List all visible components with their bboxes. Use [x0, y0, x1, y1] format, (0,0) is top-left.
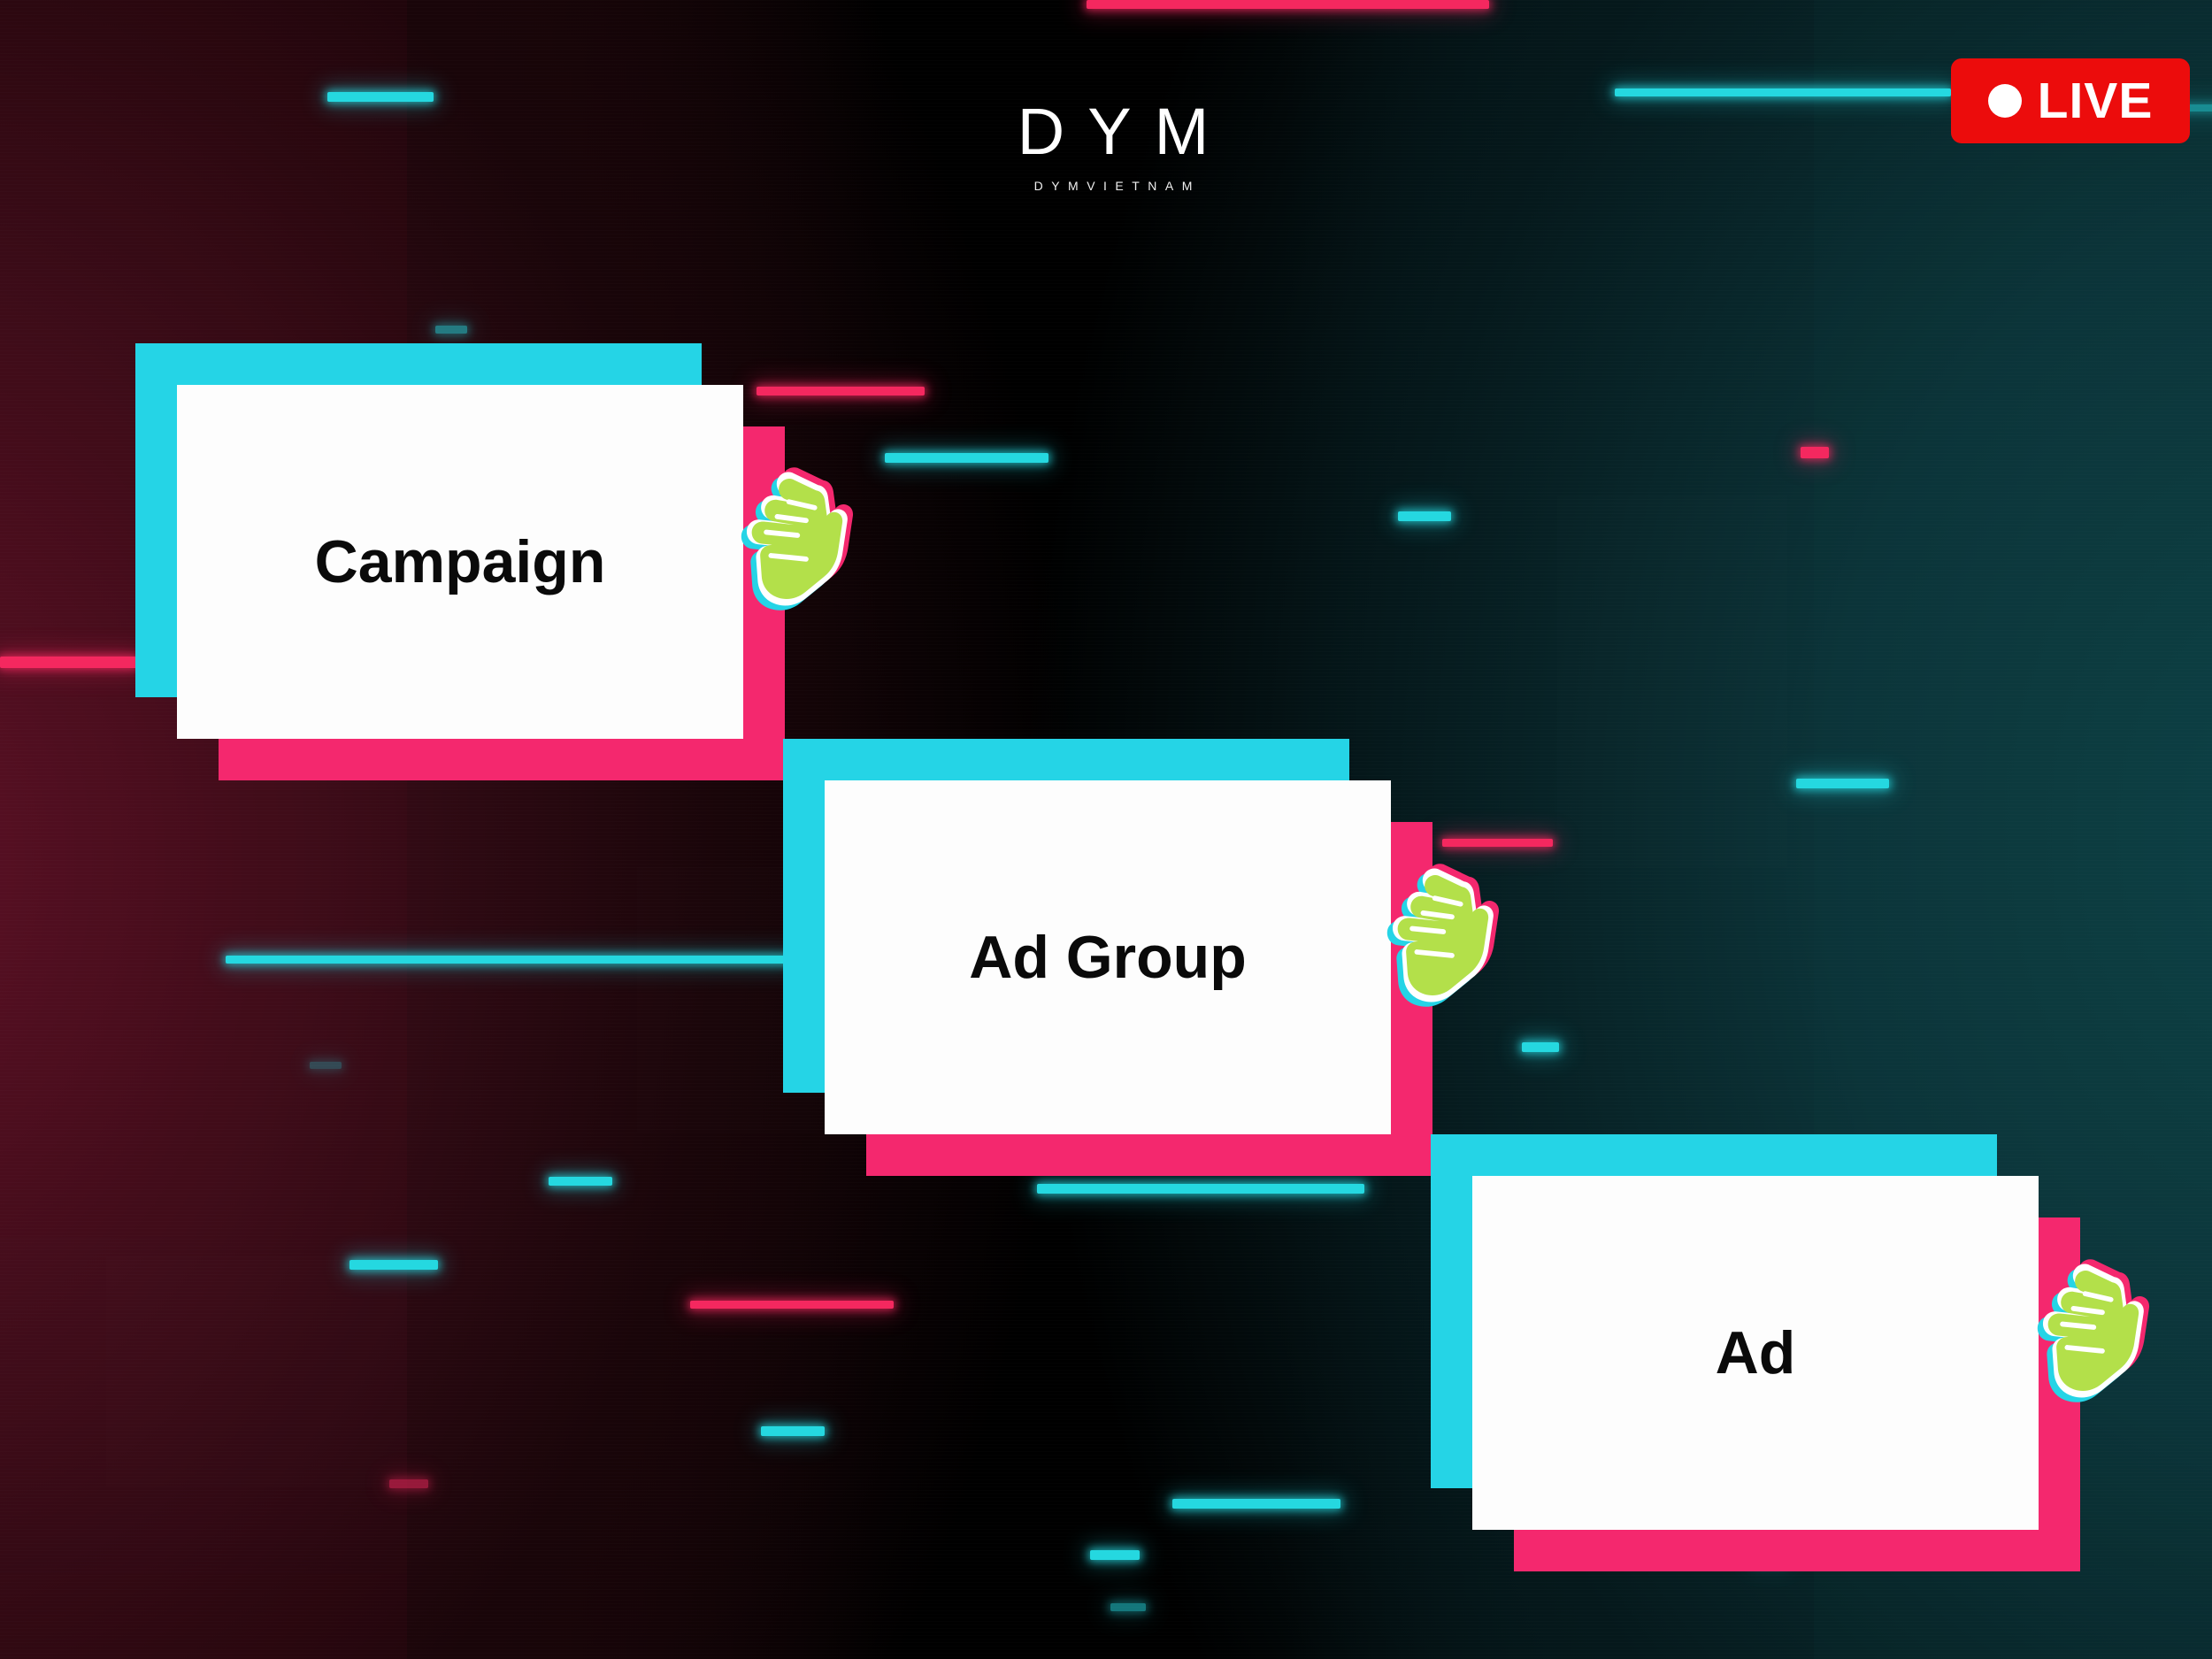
glitch-line [1796, 779, 1889, 788]
glitch-line [435, 326, 467, 334]
card-face[interactable]: Campaign [177, 385, 743, 739]
logo-wordmark: DYM [958, 99, 1268, 165]
pointing-hand-cursor-icon [1363, 856, 1522, 1020]
glitch-line [389, 1479, 428, 1488]
card-label: Ad Group [969, 927, 1247, 987]
card-face[interactable]: Ad Group [825, 780, 1391, 1134]
card-label: Campaign [315, 532, 606, 592]
glitch-line [549, 1177, 612, 1186]
glitch-line [349, 1260, 438, 1270]
record-dot-icon [1988, 84, 2022, 118]
glitch-line [1442, 839, 1553, 847]
glitch-line [1172, 1499, 1340, 1509]
glitch-line [761, 1426, 825, 1436]
glitch-line [1087, 0, 1489, 9]
glitch-line [1801, 447, 1829, 458]
card-label: Ad [1716, 1323, 1796, 1383]
glitch-line [310, 1062, 342, 1069]
glitch-line [690, 1301, 894, 1309]
glitch-line [1037, 1184, 1364, 1194]
glitch-line [1522, 1042, 1559, 1052]
glitch-line [1398, 511, 1451, 521]
glitch-line [1615, 88, 1951, 96]
live-status-badge: LIVE [1951, 58, 2190, 143]
glitch-poster-canvas: DYM DYMVIETNAM LIVE Campaign Ad Group [0, 0, 2212, 1659]
concept-card-campaign[interactable]: Campaign [135, 343, 785, 780]
concept-card-ad[interactable]: Ad [1431, 1134, 2080, 1571]
glitch-line [327, 92, 434, 102]
glitch-line [1110, 1603, 1146, 1611]
brand-logo: DYM DYMVIETNAM [958, 99, 1268, 193]
glitch-line [226, 956, 792, 964]
live-label: LIVE [2038, 76, 2154, 127]
glitch-line [1090, 1550, 1140, 1560]
card-face[interactable]: Ad [1472, 1176, 2039, 1530]
glitch-line [0, 657, 137, 668]
glitch-line [885, 453, 1048, 463]
pointing-hand-cursor-icon [2013, 1252, 2172, 1416]
pointing-hand-cursor-icon [717, 460, 876, 624]
logo-subtitle: DYMVIETNAM [958, 179, 1268, 193]
concept-card-ad-group[interactable]: Ad Group [783, 739, 1432, 1176]
